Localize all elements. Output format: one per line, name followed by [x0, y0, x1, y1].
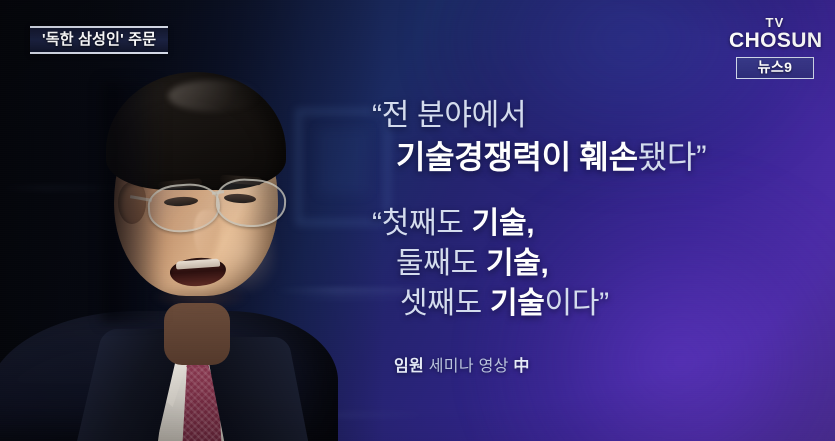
quote-close-mark: ” — [599, 287, 609, 320]
quote-open-mark: “ — [372, 207, 382, 240]
nose — [194, 210, 220, 258]
quote-line-text: 둘째도 — [396, 247, 486, 280]
chin-shadow — [152, 284, 248, 310]
channel-logo-network-name: CHOSUN — [729, 30, 821, 52]
quote-line-emphasis: 기술, — [486, 247, 549, 280]
source-caption: 임원 세미나 영상 中 — [372, 352, 824, 376]
channel-logo-tv-label: TV — [729, 16, 821, 29]
quote-block-2: “첫째도 기술, 둘째도 기술, 셋째도 기술이다” — [372, 204, 824, 324]
source-caption-body: 세미나 영상 — [424, 358, 513, 375]
quote-line-emphasis: 기술 — [490, 287, 545, 320]
channel-logo: TV CHOSUN 뉴스9 — [729, 16, 821, 79]
neck — [164, 303, 230, 365]
quote-overlay: “전 분야에서 기술경쟁력이 훼손됐다” “첫째도 기술, 둘째도 기술, 셋째… — [372, 96, 824, 376]
broadcast-frame: '독한 삼성인' 주문 TV CHOSUN 뉴스9 “전 분야에서 기술경쟁력이… — [0, 0, 835, 441]
headline-banner-text: '독한 삼성인' 주문 — [42, 31, 156, 48]
quote-open-mark: “ — [372, 99, 382, 132]
quote-line-emphasis: 기술, — [472, 207, 535, 240]
source-caption-prefix: 임원 — [394, 358, 424, 375]
portrait-edge-shadow — [102, 82, 164, 322]
quote-block-1: “전 분야에서 기술경쟁력이 훼손됐다” — [372, 96, 824, 178]
quote-line-text: 됐다 — [638, 139, 696, 175]
hair-highlight — [168, 80, 260, 112]
quote-line-text: 전 분야에서 — [382, 99, 527, 132]
speaker-portrait — [18, 58, 348, 441]
quote-line: 둘째도 기술, — [372, 244, 824, 284]
quote-line-text: 셋째도 — [400, 287, 490, 320]
program-name-badge: 뉴스9 — [736, 57, 814, 79]
quote-line-emphasis: 기술경쟁력이 훼손 — [396, 139, 638, 175]
headline-banner: '독한 삼성인' 주문 — [30, 26, 168, 54]
cheek-highlight — [218, 226, 276, 292]
quote-line: 셋째도 기술이다” — [372, 284, 824, 324]
quote-line: “첫째도 기술, — [372, 204, 824, 244]
quote-line: “전 분야에서 — [372, 96, 824, 136]
quote-line: 기술경쟁력이 훼손됐다” — [372, 136, 824, 179]
quote-close-mark: ” — [696, 139, 706, 175]
quote-line-text: 이다 — [545, 287, 600, 320]
quote-line-text: 첫째도 — [382, 207, 472, 240]
source-caption-suffix: 中 — [513, 358, 529, 375]
